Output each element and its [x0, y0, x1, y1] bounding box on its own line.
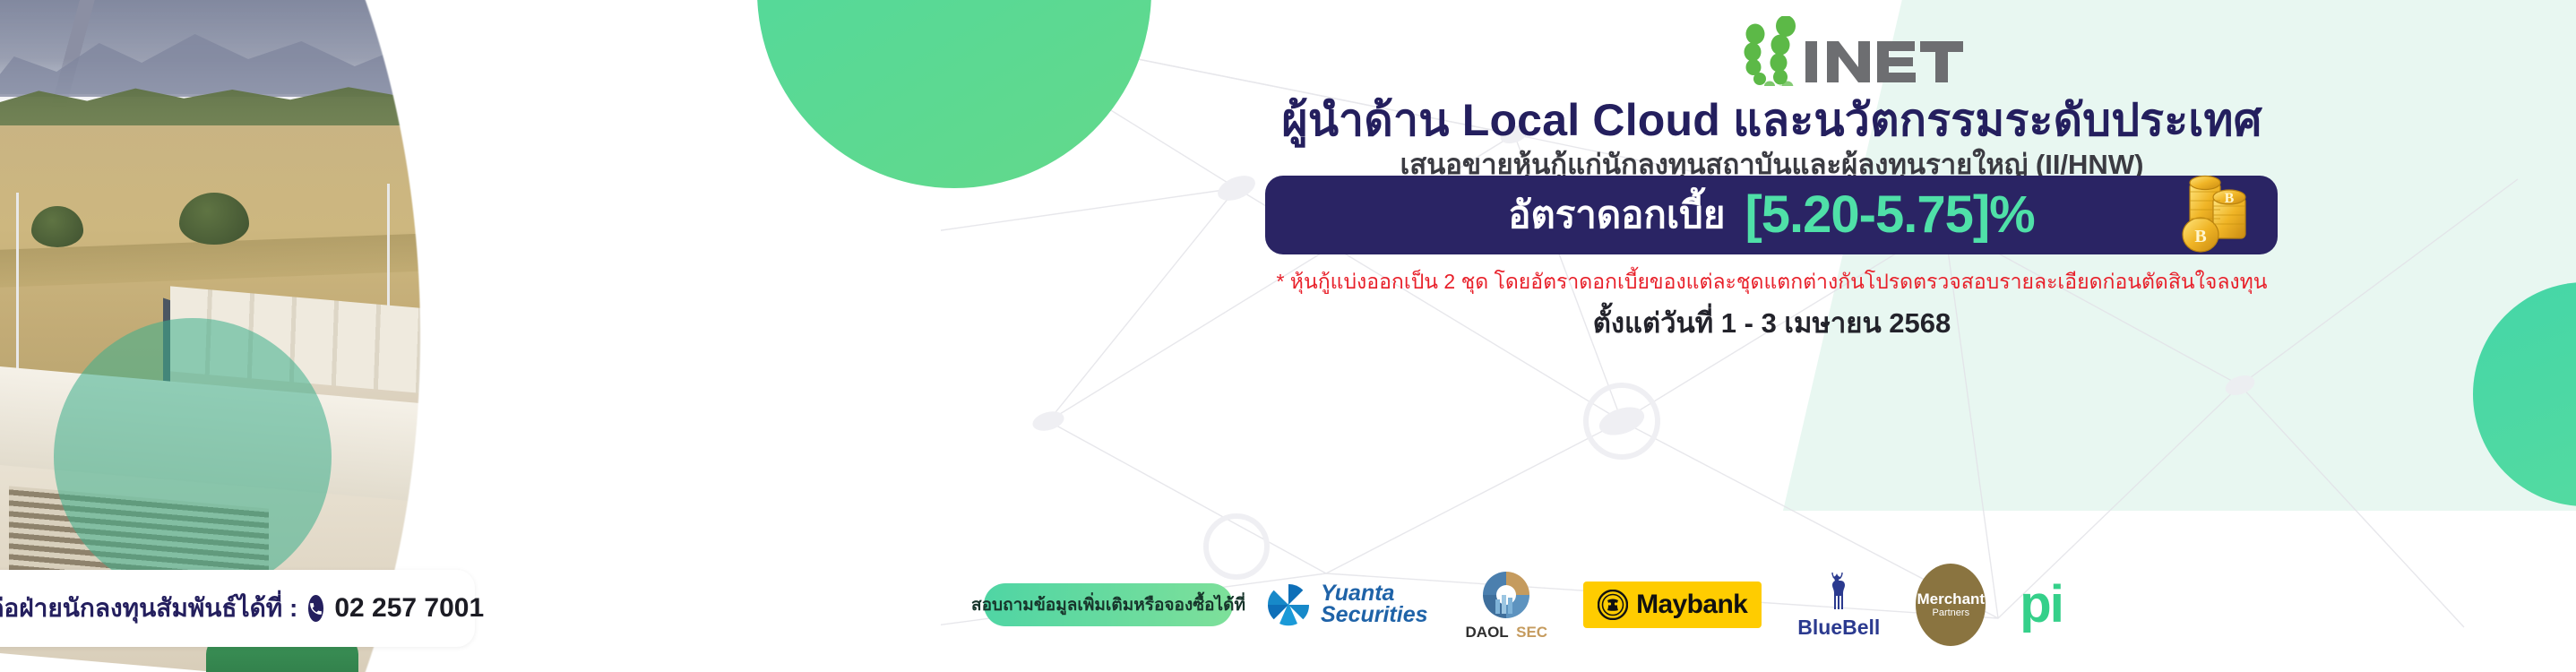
interest-rate-box: อัตราดอกเบี้ย [5.20-5.75]% [1265, 176, 2278, 254]
merchant-line1: Merchant [1917, 590, 1986, 608]
partner-logo-bluebell[interactable]: BlueBell [1797, 571, 1880, 640]
partner-logo-maybank[interactable]: Maybank [1583, 582, 1762, 628]
partner-logo-pi[interactable]: pi [2020, 584, 2063, 625]
maybank-wordmark: Maybank [1636, 590, 1747, 620]
cta-label: สอบถามข้อมูลเพิ่มเติมหรือจองซื้อได้ที่ [971, 591, 1245, 618]
photo-pole [16, 193, 19, 372]
photo-tree [31, 206, 83, 247]
pi-wordmark: pi [2020, 584, 2063, 625]
interest-rate-value: [5.20-5.75]% [1745, 189, 2034, 241]
content-column: ผู้นำด้าน Local Cloud และนวัตกรรมระดับปร… [968, 0, 2576, 672]
daol-line1: DAOL [1466, 624, 1509, 641]
disclaimer-text: * หุ้นกู้แบ่งออกเป็น 2 ชุด โดยอัตราดอกเบ… [968, 266, 2576, 298]
cta-button[interactable]: สอบถามข้อมูลเพิ่มเติมหรือจองซื้อได้ที่ [984, 583, 1233, 626]
inet-logo [1716, 16, 1994, 86]
daol-line2: SEC [1516, 624, 1547, 641]
contact-phone: 02 257 7001 [334, 593, 484, 624]
svg-text:B: B [2225, 191, 2235, 206]
svg-text:B: B [2194, 227, 2206, 246]
bluebell-wordmark: BlueBell [1797, 616, 1880, 640]
partner-logo-merchant[interactable]: Merchant Partners [1916, 564, 1986, 646]
photo-tree [466, 179, 507, 210]
contact-label: ติดต่อฝ่ายนักลงทุนสัมพันธ์ได้ที่ : [0, 589, 297, 628]
offering-date: ตั้งแต่วันที่ 1 - 3 เมษายน 2568 [968, 300, 2576, 345]
investor-relations-contact[interactable]: ติดต่อฝ่ายนักลงทุนสัมพันธ์ได้ที่ : 02 25… [0, 570, 475, 647]
maybank-tiger-icon [1598, 590, 1628, 620]
yuanta-star-icon [1265, 582, 1312, 628]
partner-logo-daol[interactable]: DAOL SEC [1466, 569, 1548, 642]
bluebell-deer-icon [1818, 571, 1859, 614]
yuanta-line2: Securities [1321, 605, 1428, 626]
interest-rate-label: อัตราดอกเบี้ย [1508, 196, 1725, 234]
gold-coins-icon: B B [2174, 163, 2256, 260]
partner-row: สอบถามข้อมูลเพิ่มเติมหรือจองซื้อได้ที่ Y… [968, 556, 2576, 654]
phone-icon [308, 595, 323, 622]
merchant-line2: Partners [1933, 607, 1970, 619]
inet-bond-offering-banner: ผู้นำด้าน Local Cloud และนวัตกรรมระดับปร… [0, 0, 2576, 672]
daol-circle-icon [1480, 569, 1532, 621]
inet-wordmark [1805, 41, 1963, 82]
inet-dots-logo-icon [1745, 16, 1796, 86]
partner-logo-yuanta[interactable]: Yuanta Securities [1265, 582, 1428, 628]
teal-circle-overlay [54, 318, 332, 596]
